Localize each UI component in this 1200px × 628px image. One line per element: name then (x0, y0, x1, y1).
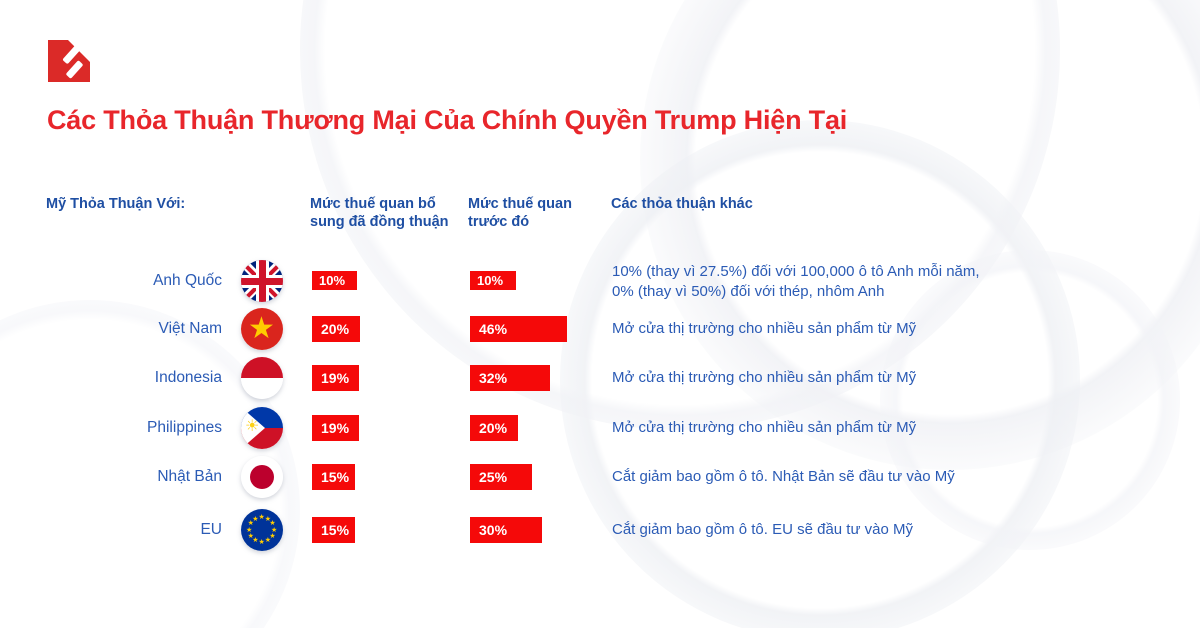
column-header-other-agreements: Các thỏa thuận khác (611, 195, 753, 213)
bar-previous-tariff-label: 32% (470, 370, 507, 386)
bar-new-tariff-label: 15% (312, 469, 349, 485)
bar-previous-tariff-label: 10% (470, 273, 503, 288)
bar-previous-tariff-label: 25% (470, 469, 507, 485)
bar-new-tariff: 20% (312, 316, 360, 342)
table-row: Nhật Bản 15% 25% Cắt giảm bao gồm ô tô. … (0, 455, 1200, 499)
bar-new-tariff-label: 19% (312, 420, 349, 436)
bar-new-tariff-label: 10% (312, 273, 345, 288)
bar-new-tariff: 15% (312, 464, 355, 490)
flag-japan-icon (241, 456, 283, 498)
table-row: Việt Nam ★ 20% 46% Mở cửa thị trường cho… (0, 307, 1200, 351)
bar-new-tariff: 19% (312, 415, 359, 441)
bar-previous-tariff-label: 46% (470, 321, 507, 337)
bar-new-tariff-label: 15% (312, 522, 349, 538)
brand-logo-icon (48, 40, 90, 82)
other-agreements-text: Mở cửa thị trường cho nhiều sản phẩm từ … (612, 307, 916, 351)
other-agreements-text: 10% (thay vì 27.5%) đối với 100,000 ô tô… (612, 259, 980, 302)
flag-uk-icon (241, 260, 283, 302)
infographic-canvas: Các Thỏa Thuận Thương Mại Của Chính Quyề… (0, 0, 1200, 628)
bar-new-tariff-label: 19% (312, 370, 349, 386)
flag-eu-icon: ★★★★★★★★★★★★ (241, 509, 283, 551)
column-header-country: Mỹ Thỏa Thuận Với: (46, 195, 185, 213)
bar-new-tariff: 10% (312, 271, 357, 290)
column-header-new-tariff: Mức thuế quan bổ sung đã đồng thuận (310, 195, 455, 231)
table-row: Philippines ☀ 19% 20% Mở cửa thị trường … (0, 406, 1200, 450)
table-row: Indonesia 19% 32% Mở cửa thị trường cho … (0, 356, 1200, 400)
page-title: Các Thỏa Thuận Thương Mại Của Chính Quyề… (47, 105, 847, 136)
table-row: EU ★★★★★★★★★★★★ 15% 30% Cắt giảm bao gồm… (0, 508, 1200, 552)
flag-indonesia-icon (241, 357, 283, 399)
bar-previous-tariff-label: 30% (470, 522, 507, 538)
country-label: Philippines (40, 406, 222, 450)
flag-vietnam-icon: ★ (241, 308, 283, 350)
bar-previous-tariff: 32% (470, 365, 550, 391)
bar-previous-tariff: 20% (470, 415, 518, 441)
bar-previous-tariff: 46% (470, 316, 567, 342)
country-label: Indonesia (40, 356, 222, 400)
bar-new-tariff-label: 20% (312, 321, 349, 337)
bar-previous-tariff: 10% (470, 271, 516, 290)
country-label: Việt Nam (40, 307, 222, 351)
column-header-previous-tariff: Mức thuế quan trước đó (468, 195, 608, 231)
table-row: Anh Quốc 10% 10% 10% (thay vì 27.5%) đối… (0, 259, 1200, 303)
bar-previous-tariff: 30% (470, 517, 542, 543)
bar-new-tariff: 15% (312, 517, 355, 543)
bar-previous-tariff: 25% (470, 464, 532, 490)
other-agreements-text: Cắt giảm bao gồm ô tô. EU sẽ đầu tư vào … (612, 508, 913, 552)
other-agreements-text: Mở cửa thị trường cho nhiều sản phẩm từ … (612, 356, 916, 400)
country-label: EU (40, 508, 222, 552)
other-agreements-text: Cắt giảm bao gồm ô tô. Nhật Bản sẽ đầu t… (612, 455, 955, 499)
bar-new-tariff: 19% (312, 365, 359, 391)
country-label: Nhật Bản (40, 455, 222, 499)
flag-philippines-icon: ☀ (241, 407, 283, 449)
other-agreements-text: Mở cửa thị trường cho nhiều sản phẩm từ … (612, 406, 916, 450)
country-label: Anh Quốc (40, 259, 222, 303)
bar-previous-tariff-label: 20% (470, 420, 507, 436)
